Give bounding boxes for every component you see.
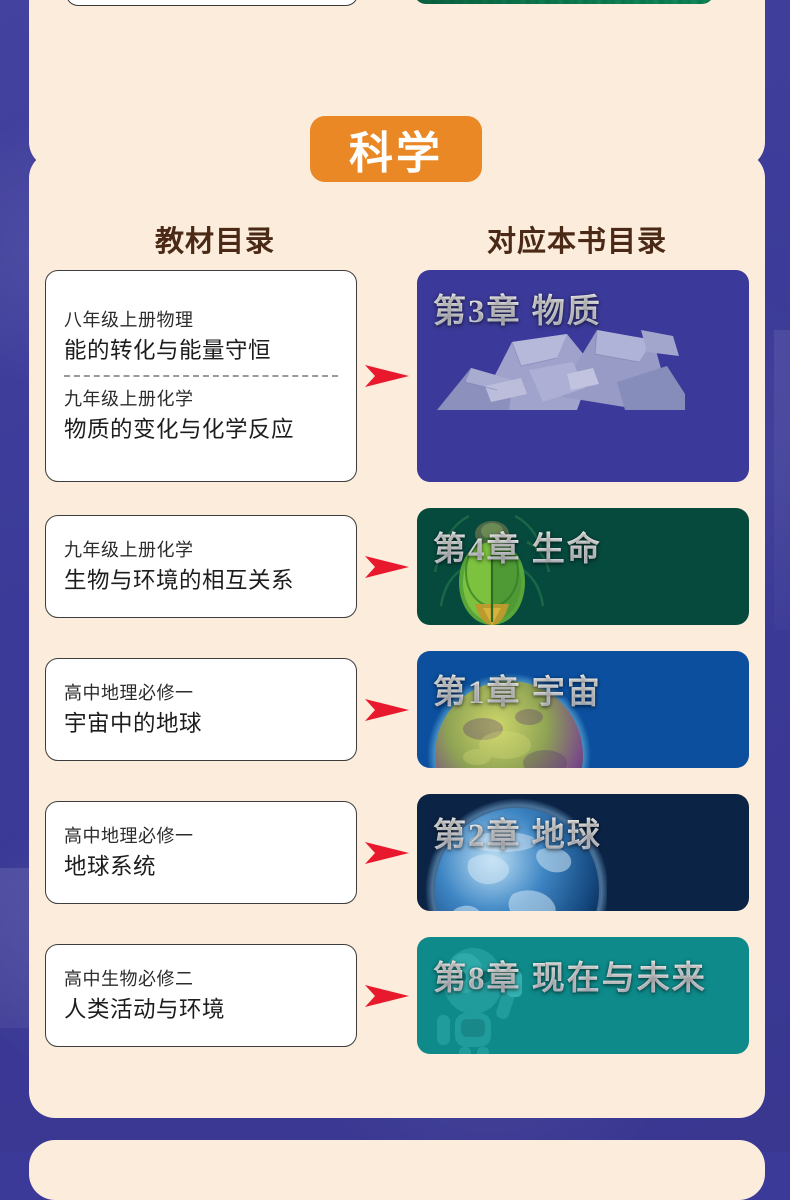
source-title: 宇宙中的地球: [64, 708, 338, 740]
chapter-label: 第8章 现在与未来: [417, 937, 707, 999]
chapter-label: 第4章 生命: [417, 508, 602, 570]
mapping-row: 九年级上册化学 生物与环境的相互关系: [29, 508, 765, 625]
source-grade: 八年级上册物理: [64, 307, 338, 335]
source-entry: 高中生物必修二 人类活动与环境: [46, 966, 356, 1025]
chapter-card[interactable]: 第2章 地球: [417, 794, 749, 911]
source-grade: 九年级上册化学: [64, 537, 338, 565]
subject-badge[interactable]: 科学: [310, 116, 482, 182]
source-grade: 高中地理必修一: [64, 823, 338, 851]
red-arrow-icon: [363, 981, 411, 1011]
chapter-card[interactable]: 第8章 现在与未来: [417, 937, 749, 1054]
source-divider: [64, 375, 338, 377]
red-arrow-icon: [363, 361, 411, 391]
source-card[interactable]: 高中地理必修一 宇宙中的地球: [45, 658, 357, 761]
column-header-textbook: 教材目录: [45, 218, 385, 260]
chapter-card[interactable]: 第3章 物质: [417, 270, 749, 482]
red-arrow-icon: [363, 695, 411, 725]
source-title: 人类活动与环境: [64, 994, 338, 1026]
background-highlight-right: [774, 330, 790, 630]
background-highlight-left: [0, 868, 32, 1028]
source-grade: 高中生物必修二: [64, 966, 338, 994]
subject-panel: 教材目录 对应本书目录 八年级上册物理 能的转化与能量守恒 九年级上册化学 物质…: [29, 152, 765, 1118]
source-title: 物质的变化与化学反应: [64, 414, 338, 446]
red-arrow-icon: [363, 552, 411, 582]
source-grade: 九年级上册化学: [64, 386, 338, 414]
source-entry: 九年级上册化学 物质的变化与化学反应: [46, 386, 356, 445]
mapping-rows: 八年级上册物理 能的转化与能量守恒 九年级上册化学 物质的变化与化学反应: [29, 270, 765, 1080]
arrow-cell: [357, 981, 417, 1011]
source-card[interactable]: 高中地理必修一 地球系统: [45, 801, 357, 904]
source-title: 地球系统: [64, 851, 338, 883]
source-grade: 高中地理必修一: [64, 680, 338, 708]
source-card[interactable]: 九年级上册化学 生物与环境的相互关系: [45, 515, 357, 618]
mapping-row: 高中地理必修一 地球系统: [29, 794, 765, 911]
column-header-book: 对应本书目录: [407, 218, 747, 260]
mapping-row: 高中地理必修一 宇宙中的地球: [29, 651, 765, 768]
mapping-row: 八年级上册物理 能的转化与能量守恒 九年级上册化学 物质的变化与化学反应: [29, 270, 765, 482]
column-headers: 教材目录 对应本书目录: [29, 218, 765, 260]
next-subject-panel: [29, 1140, 765, 1200]
previous-source-card: [66, 0, 358, 6]
source-entry: 高中地理必修一 宇宙中的地球: [46, 680, 356, 739]
source-entry: 高中地理必修一 地球系统: [46, 823, 356, 882]
chapter-label: 第2章 地球: [417, 794, 602, 856]
red-arrow-icon: [363, 838, 411, 868]
previous-chapter-card: [414, 0, 714, 4]
chapter-card[interactable]: 第1章 宇宙: [417, 651, 749, 768]
arrow-cell: [357, 361, 417, 391]
source-title: 能的转化与能量守恒: [64, 335, 338, 367]
mapping-row: 高中生物必修二 人类活动与环境: [29, 937, 765, 1054]
arrow-cell: [357, 695, 417, 725]
arrow-cell: [357, 552, 417, 582]
chapter-card[interactable]: 第4章 生命: [417, 508, 749, 625]
chapter-label: 第3章 物质: [417, 270, 602, 332]
source-entry: 八年级上册物理 能的转化与能量守恒: [46, 307, 356, 366]
chapter-label: 第1章 宇宙: [417, 651, 602, 713]
source-card[interactable]: 八年级上册物理 能的转化与能量守恒 九年级上册化学 物质的变化与化学反应: [45, 270, 357, 482]
source-title: 生物与环境的相互关系: [64, 565, 338, 597]
source-entry: 九年级上册化学 生物与环境的相互关系: [46, 537, 356, 596]
arrow-cell: [357, 838, 417, 868]
source-card[interactable]: 高中生物必修二 人类活动与环境: [45, 944, 357, 1047]
subject-badge-label: 科学: [349, 117, 443, 181]
